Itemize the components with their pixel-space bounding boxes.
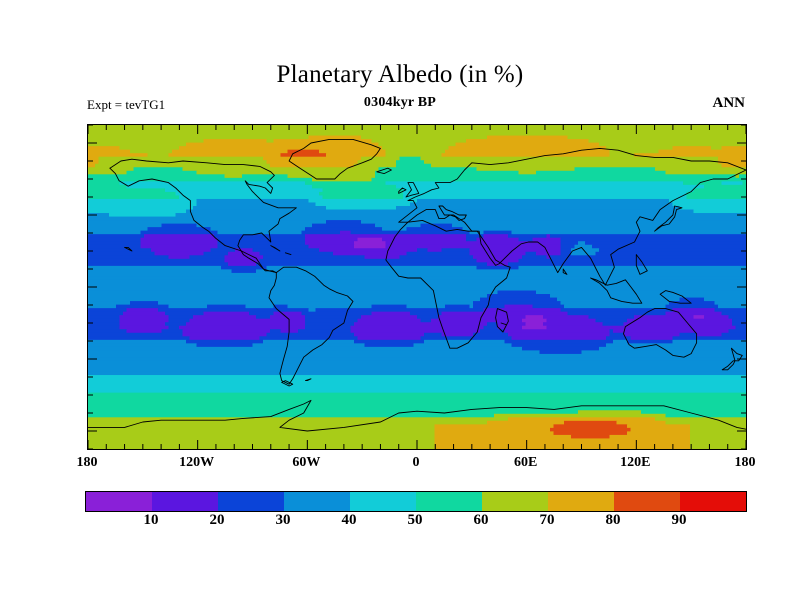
- colorbar-swatch: [680, 492, 746, 511]
- colorbar-tick-label: 60: [474, 512, 489, 529]
- colorbar-swatch: [548, 492, 614, 511]
- colorbar-tick-label: 20: [210, 512, 225, 529]
- colorbar-tick-label: 80: [606, 512, 621, 529]
- colorbar-swatch: [416, 492, 482, 511]
- colorbar-swatch: [86, 492, 152, 511]
- experiment-label: Expt = tevTG1: [87, 97, 165, 113]
- page-title: Planetary Albedo (in %): [0, 61, 800, 89]
- colorbar-tick-label: 10: [144, 512, 159, 529]
- colorbar-swatch: [350, 492, 416, 511]
- albedo-map-figure: Planetary Albedo (in %) 0304kyr BP Expt …: [0, 0, 800, 600]
- longitude-tick-label: 120E: [620, 455, 650, 471]
- colorbar-tick-label: 70: [540, 512, 555, 529]
- colorbar-swatch: [284, 492, 350, 511]
- colorbar-tick-label: 50: [408, 512, 423, 529]
- longitude-tick-label: 0: [413, 455, 420, 471]
- colorbar: [85, 491, 747, 512]
- latitude-axis: 80N40N040S80S: [0, 124, 800, 448]
- longitude-tick-label: 60E: [514, 455, 537, 471]
- colorbar-tick-label: 90: [672, 512, 687, 529]
- longitude-tick-label: 120W: [179, 455, 214, 471]
- colorbar-tick-label: 30: [276, 512, 291, 529]
- colorbar-swatch: [614, 492, 680, 511]
- season-label: ANN: [713, 95, 746, 112]
- colorbar-tick-label: 40: [342, 512, 357, 529]
- longitude-tick-label: 60W: [292, 455, 320, 471]
- colorbar-swatch: [152, 492, 218, 511]
- colorbar-swatch: [482, 492, 548, 511]
- colorbar-swatch: [218, 492, 284, 511]
- longitude-tick-label: 180: [735, 455, 756, 471]
- longitude-tick-label: 180: [77, 455, 98, 471]
